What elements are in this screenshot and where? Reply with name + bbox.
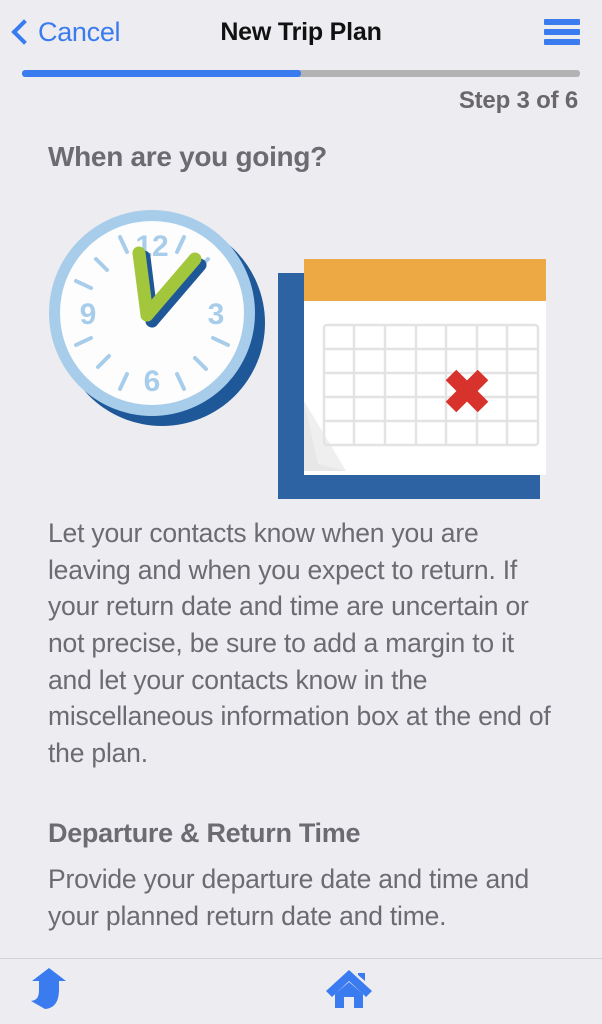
hamburger-bar	[544, 29, 580, 35]
home-icon	[325, 968, 373, 1015]
subsection-heading: Departure & Return Time	[48, 818, 554, 849]
progress-fill	[22, 70, 301, 77]
svg-text:9: 9	[80, 298, 97, 331]
illustration-clock-calendar: 12 3 6 9	[38, 197, 564, 507]
analog-clock-icon: 12 3 6 9	[40, 201, 270, 431]
cancel-button-label: Cancel	[38, 17, 120, 48]
svg-text:3: 3	[208, 298, 225, 331]
cancel-button[interactable]: Cancel	[10, 17, 120, 48]
hamburger-bar	[544, 39, 580, 45]
chevron-left-icon	[10, 17, 30, 47]
subsection-paragraph: Provide your departure date and time and…	[48, 861, 554, 934]
body-paragraph: Let your contacts know when you are leav…	[48, 515, 554, 772]
progress-bar	[0, 70, 602, 77]
arrow-curve-up-icon	[27, 968, 67, 1015]
main-content: When are you going? 12 3 6 9	[0, 115, 602, 934]
hamburger-menu-icon[interactable]	[544, 19, 580, 45]
svg-text:6: 6	[144, 365, 161, 398]
back-up-button[interactable]	[4, 959, 90, 1024]
hamburger-bar	[544, 19, 580, 25]
app-header: Cancel New Trip Plan	[0, 0, 602, 64]
step-indicator: Step 3 of 6	[0, 77, 602, 115]
bottom-toolbar	[0, 958, 602, 1024]
page-heading: When are you going?	[48, 141, 554, 173]
calendar-icon	[278, 259, 546, 499]
home-button[interactable]	[306, 959, 392, 1024]
progress-track	[22, 70, 580, 77]
